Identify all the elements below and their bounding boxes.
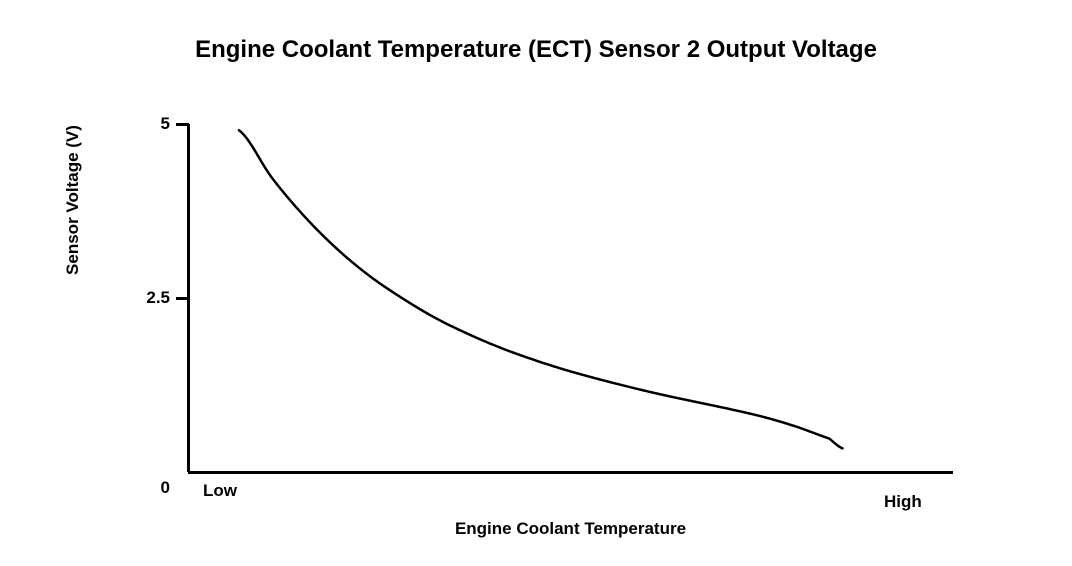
chart-container: Engine Coolant Temperature (ECT) Sensor … — [0, 0, 1072, 566]
data-series-line — [239, 130, 843, 448]
plot-area — [0, 0, 1072, 566]
